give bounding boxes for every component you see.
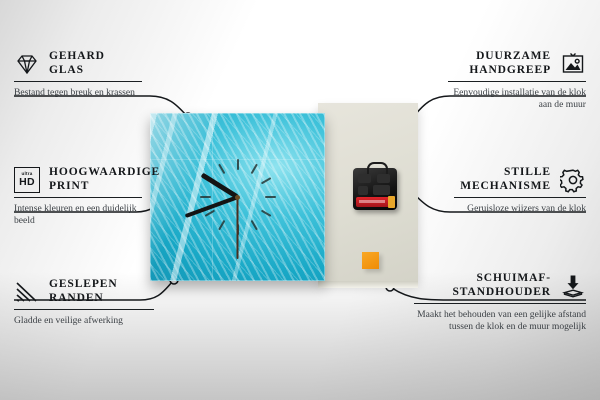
divider [414, 303, 586, 304]
picture-frame-icon [560, 51, 586, 77]
feature-geslepen-randen: GESLEPEN RANDEN Gladde en veilige afwerk… [14, 278, 154, 327]
gear-icon [560, 167, 586, 193]
feature-description: Bestand tegen breuk en krassen [14, 87, 142, 99]
feature-title: DUURZAME HANDGREEP [448, 50, 551, 77]
feature-title: SCHUIMAF-STANDHOUDER [414, 272, 551, 299]
clock-center-cap [235, 195, 240, 200]
clock-face [150, 113, 325, 281]
divider [14, 81, 142, 82]
feature-description: Intense kleuren en een duidelijk beeld [14, 203, 142, 226]
feature-duurzame-handgreep: DUURZAME HANDGREEP Eenvoudige installati… [448, 50, 586, 111]
product-image [150, 100, 418, 290]
clock-second-hand [237, 197, 239, 259]
feature-hoogwaardige-print: ultra HD HOOGWAARDIGE PRINT Intense kleu… [14, 166, 142, 227]
diamond-icon [14, 51, 40, 77]
foam-spacer-icon [560, 273, 586, 299]
battery [356, 197, 394, 207]
divider [448, 81, 586, 82]
feature-description: Gladde en veilige afwerking [14, 315, 154, 327]
beveled-edges-icon [14, 279, 40, 305]
ultra-hd-icon: ultra HD [14, 167, 40, 193]
infographic-canvas: GEHARD GLAS Bestand tegen breuk en krass… [0, 0, 600, 400]
feature-description: Eenvoudige installatie van de klok aan d… [448, 87, 586, 110]
hd-badge-large: HD [19, 177, 35, 188]
divider [14, 309, 154, 310]
feature-description: Maakt het behouden van een gelijke afsta… [414, 309, 586, 332]
quartz-movement [353, 168, 397, 210]
feature-title: GESLEPEN RANDEN [49, 278, 154, 305]
foam-spacer-pad [362, 252, 379, 269]
feature-gehard-glas: GEHARD GLAS Bestand tegen breuk en krass… [14, 50, 142, 99]
feature-schuimafstandhouder: SCHUIMAF-STANDHOUDER Maakt het behouden … [414, 272, 586, 333]
feature-stille-mechanisme: STILLE MECHANISME Geruisloze wijzers van… [454, 166, 586, 215]
divider [14, 197, 142, 198]
feature-title: HOOGWAARDIGE PRINT [49, 166, 160, 193]
divider [454, 197, 586, 198]
feature-description: Geruisloze wijzers van de klok [454, 203, 586, 215]
feature-title: GEHARD GLAS [49, 50, 142, 77]
feature-title: STILLE MECHANISME [454, 166, 551, 193]
